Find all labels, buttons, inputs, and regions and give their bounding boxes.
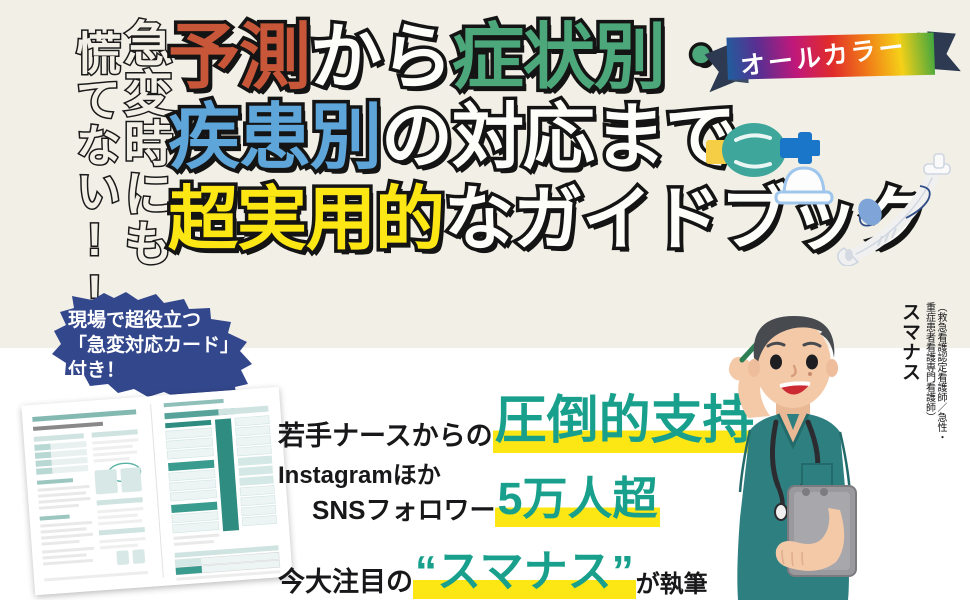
poster-root: 急変時にも 慌てない!! 予測から症状別・ 疾患別の対応まで 超実用的なガイドブ… <box>0 0 970 600</box>
badge-line-3: 付き！ <box>68 358 244 383</box>
badge-line-1: 現場で超役立つ <box>68 308 244 333</box>
copy-row2-prefix: Instagramほか SNSフォロワー <box>278 455 495 527</box>
emergency-response-card-photo <box>21 387 292 595</box>
copy-row1-pre: 若手ナースからの <box>278 414 493 453</box>
vertical-catchcopy: 急変時にも 慌てない!! <box>28 18 168 308</box>
bonus-card-starburst-badge: 現場で超役立つ 「急変対応カード」 付き！ <box>52 292 252 400</box>
badge-line-2: 「急変対応カード」 <box>68 333 244 358</box>
headline-seg-kara: から <box>310 22 452 94</box>
nurse-name: スマナス <box>896 302 923 452</box>
copy-row-1: 若手ナースからの 圧倒的支持 で <box>278 378 718 453</box>
copy-row2-instagram: Instagramほか <box>278 455 495 490</box>
bottom-copy-block: 若手ナースからの 圧倒的支持 で Instagramほか SNSフォロワー 5万… <box>278 378 718 599</box>
copy-row2-highlight: 5万人超 <box>495 462 659 527</box>
vertical-catchcopy-line2: 慌てない!! <box>72 30 117 318</box>
copy-row3-pre: 今大注目の <box>278 560 413 599</box>
headline-seg-notaiomade: の対応まで <box>381 102 736 174</box>
card-artwork <box>21 387 292 595</box>
headline-seg-shikkanbetsu: 疾患別 <box>168 102 381 174</box>
headline-seg-shojobetsu: 症状別・ <box>452 22 736 94</box>
headline-seg-chojitsuyoteki: 超実用的 <box>168 184 444 254</box>
nurse-character-illustration <box>690 300 890 600</box>
quote-open: “ <box>415 547 437 596</box>
copy-row3-highlight: “スマナス” <box>413 535 636 599</box>
badge-text: 現場で超役立つ 「急変対応カード」 付き！ <box>68 308 244 383</box>
copy-row-2: Instagramほか SNSフォロワー 5万人超 <box>278 455 718 527</box>
copy-row2-sns: SNSフォロワー <box>278 490 495 527</box>
copy-row-3: 今大注目の “スマナス” が執筆 <box>278 535 718 599</box>
vertical-catchcopy-line1: 急変時にも <box>119 18 168 290</box>
bag-valve-mask-icon <box>706 118 846 218</box>
quote-close: ” <box>612 547 634 596</box>
copy-row3-name: スマナス <box>437 547 612 596</box>
nurse-caption: スマナス （救急看護認定看護師／急性・重症患者看護専門看護師） <box>896 302 946 452</box>
endotracheal-tube-icon <box>836 150 968 266</box>
headline-seg-yosoku: 予測 <box>168 22 310 94</box>
nurse-credentials: （救急看護認定看護師／急性・重症患者看護専門看護師） <box>923 302 946 448</box>
